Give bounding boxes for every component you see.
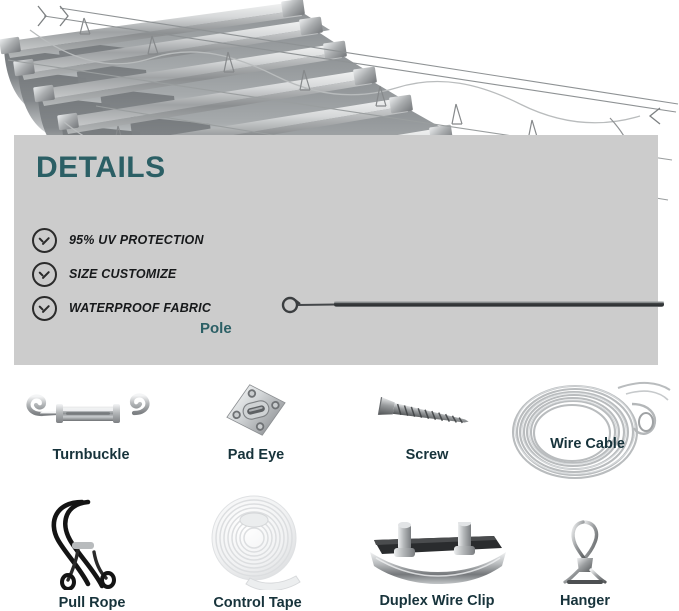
pad-eye-icon	[186, 380, 326, 442]
part-screw: Screw	[362, 386, 492, 463]
control-tape-icon	[190, 490, 325, 590]
part-label: Pull Rope	[22, 595, 162, 611]
part-duplex-wire-clip: Duplex Wire Clip	[352, 522, 522, 609]
page-title: DETAILS	[36, 151, 166, 185]
part-label: Control Tape	[190, 595, 325, 611]
product-infographic: DETAILS 95% UV PROTECTION SIZE CUSTOMIZE…	[0, 0, 679, 611]
hanger-icon	[530, 516, 640, 588]
part-control-tape: Control Tape	[190, 490, 325, 611]
part-pad-eye: Pad Eye	[186, 380, 326, 463]
check-circle-icon	[32, 262, 57, 287]
list-item: 95% UV PROTECTION	[32, 223, 332, 257]
part-turnbuckle: Turnbuckle	[16, 384, 166, 463]
part-pull-rope: Pull Rope	[22, 494, 162, 611]
details-panel: DETAILS 95% UV PROTECTION SIZE CUSTOMIZE…	[14, 135, 658, 365]
turnbuckle-icon	[16, 384, 166, 442]
pull-rope-icon	[22, 494, 162, 590]
part-wire-cable: Wire Cable	[500, 374, 675, 482]
part-hanger: Hanger	[530, 516, 640, 609]
part-label: Pad Eye	[186, 447, 326, 463]
duplex-wire-clip-icon	[352, 522, 522, 588]
wire-cable-icon	[500, 374, 675, 482]
part-label: Screw	[362, 447, 492, 463]
pole-label: Pole	[200, 320, 232, 337]
part-label: Wire Cable	[500, 436, 675, 452]
part-label: Turnbuckle	[16, 447, 166, 463]
feature-label: WATERPROOF FABRIC	[69, 301, 211, 315]
parts-gallery: Turnbuckle	[0, 372, 679, 611]
screw-icon	[362, 386, 492, 442]
check-circle-icon	[32, 296, 57, 321]
check-circle-icon	[32, 228, 57, 253]
pole-icon	[274, 285, 674, 325]
part-label: Duplex Wire Clip	[352, 593, 522, 609]
part-label: Hanger	[530, 593, 640, 609]
feature-label: 95% UV PROTECTION	[69, 233, 204, 247]
feature-label: SIZE CUSTOMIZE	[69, 267, 176, 281]
